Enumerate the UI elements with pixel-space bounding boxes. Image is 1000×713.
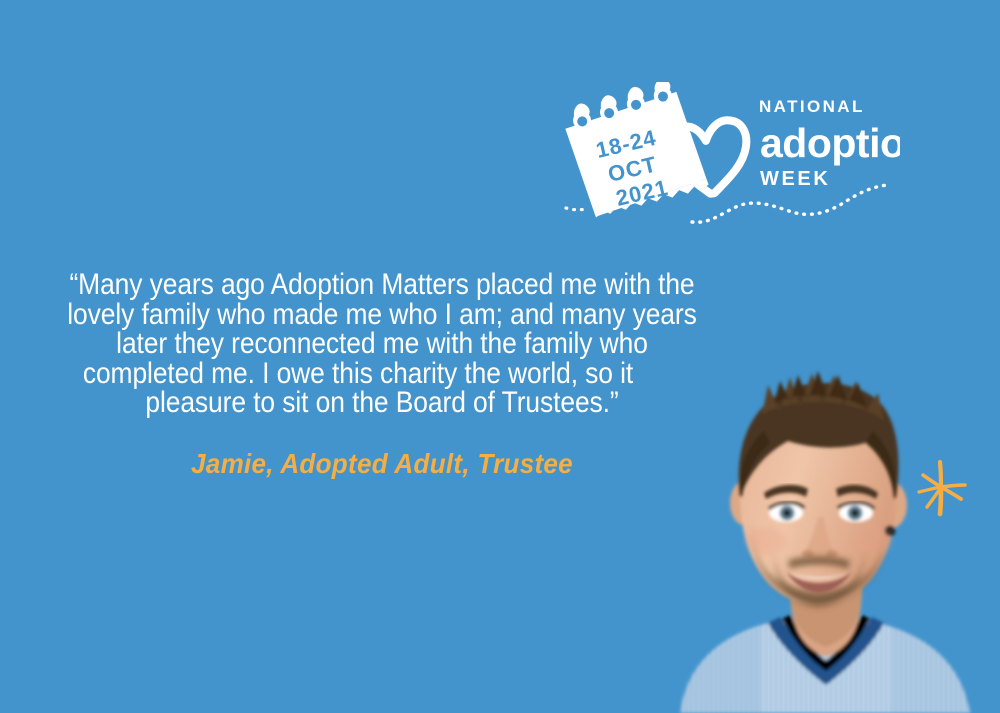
- wordmark-line-adoption: adoption: [760, 120, 900, 166]
- quote-line: later they reconnected me with the famil…: [56, 329, 707, 359]
- logo-wordmark: NATIONAL adoption WEEK: [759, 97, 900, 190]
- logo-graphic: 18-24 OCT 2021 NATIONAL adoption WEEK: [560, 82, 900, 232]
- national-adoption-week-logo: 18-24 OCT 2021 NATIONAL adoption WEEK: [560, 82, 900, 232]
- quote-line: “Many years ago Adoption Matters placed …: [56, 270, 707, 300]
- dotted-wave-left-icon: [566, 208, 586, 210]
- wordmark-line-national: NATIONAL: [759, 97, 865, 116]
- adoption-week-quote-poster: 18-24 OCT 2021 NATIONAL adoption WEEK “M…: [0, 0, 1000, 713]
- quote-attribution: Jamie, Adopted Adult, Trustee: [38, 448, 726, 480]
- quote-line: completed me. I owe this charity the wor…: [56, 359, 707, 389]
- wordmark-line-week: WEEK: [760, 168, 830, 190]
- quote-line: pleasure to sit on the Board of Trustees…: [56, 388, 707, 418]
- jamie-portrait-photo: [640, 355, 1000, 713]
- quote-line: lovely family who made me who I am; and …: [56, 300, 707, 330]
- star-graphic: [912, 458, 970, 518]
- portrait-graphic: [640, 355, 1000, 713]
- hand-drawn-star-asterisk: [912, 458, 970, 518]
